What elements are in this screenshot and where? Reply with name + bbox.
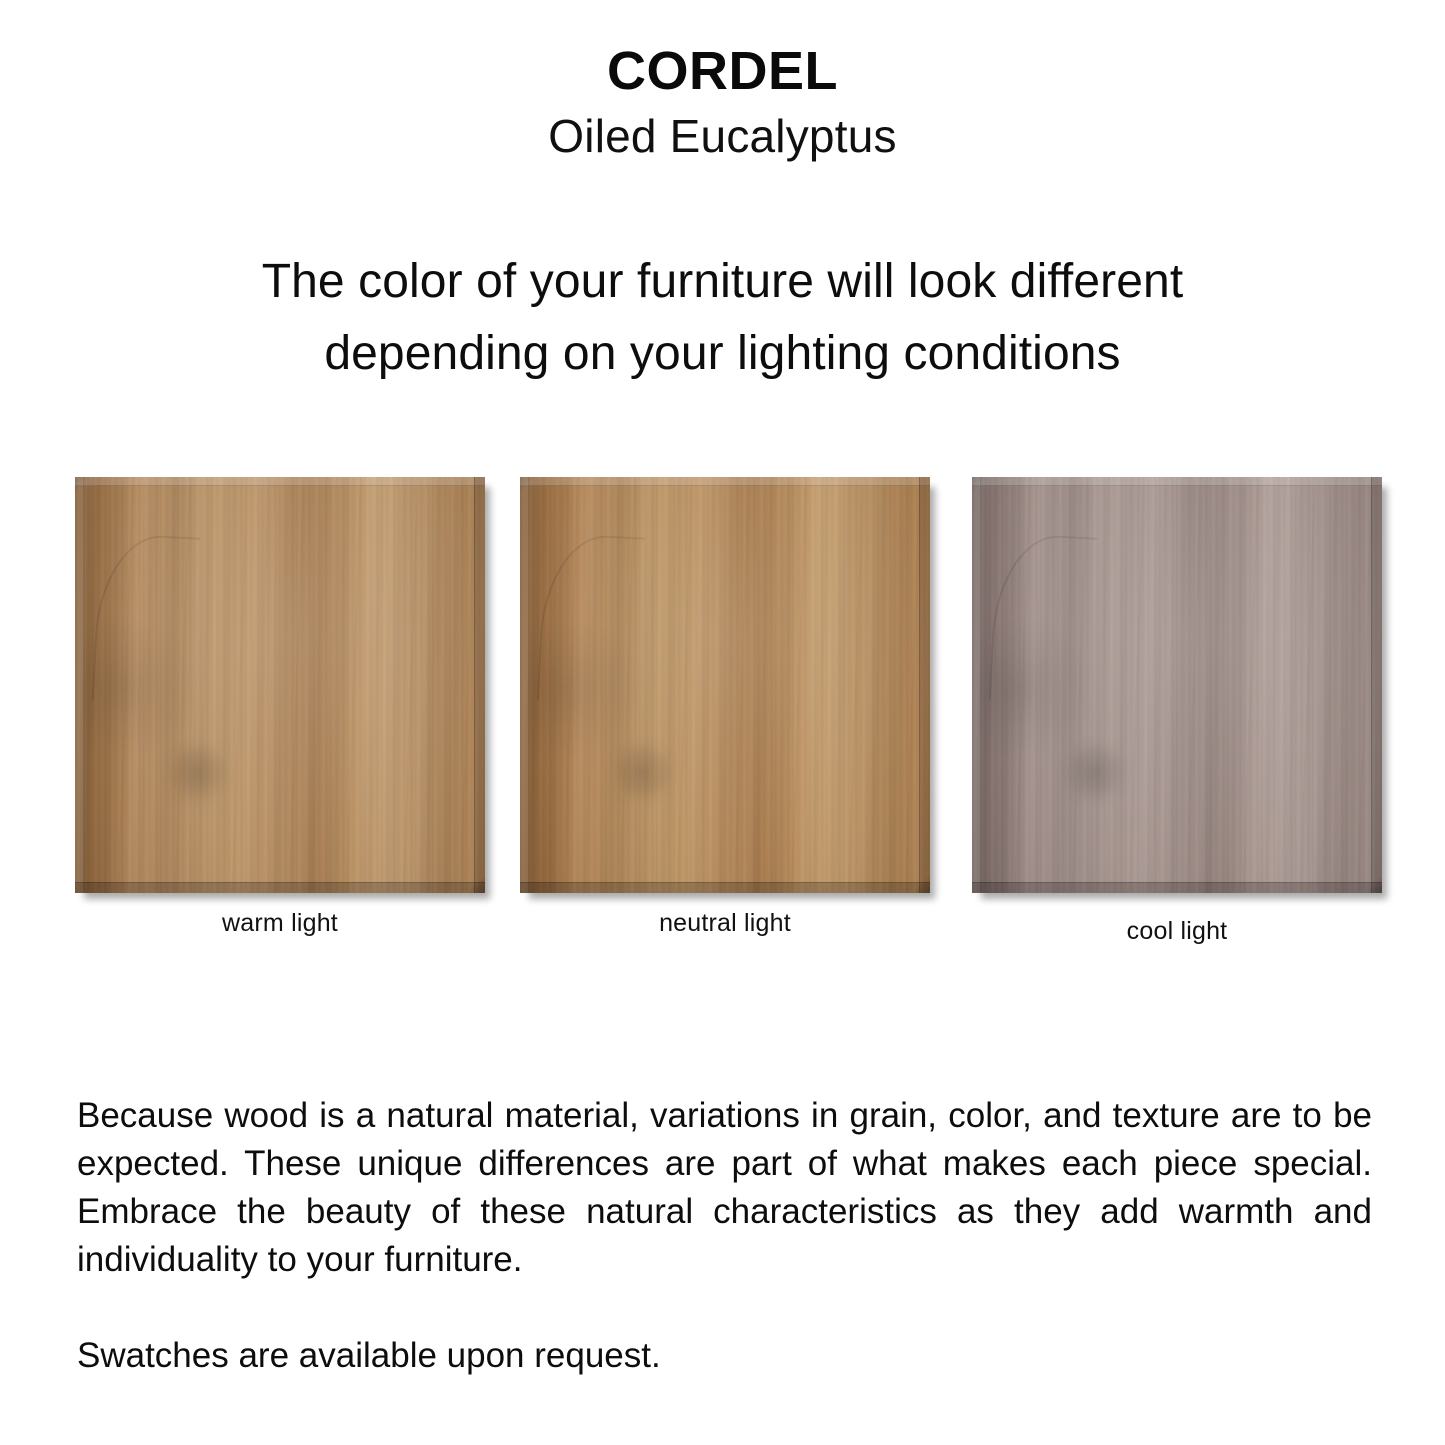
body-paragraph-2: Swatches are available upon request. xyxy=(77,1332,1372,1380)
finish-name: Oiled Eucalyptus xyxy=(0,113,1445,159)
swatch-label-cool: cool light xyxy=(972,917,1382,946)
color-disclaimer-page: CORDEL Oiled Eucalyptus The color of you… xyxy=(0,0,1445,1445)
swatch-row: warm light xyxy=(0,477,1445,947)
swatch-cell-neutral: neutral light xyxy=(520,477,930,893)
brand-title: CORDEL xyxy=(0,44,1445,98)
headline: The color of your furniture will look di… xyxy=(170,246,1275,390)
swatch-label-neutral: neutral light xyxy=(520,909,930,938)
swatch-cell-cool: cool light xyxy=(972,477,1382,893)
wood-swatch-icon xyxy=(520,477,930,893)
wood-swatch-icon xyxy=(75,477,485,893)
body-paragraph-1: Because wood is a natural material, vari… xyxy=(77,1092,1372,1284)
swatch-label-warm: warm light xyxy=(75,909,485,938)
body-copy: Because wood is a natural material, vari… xyxy=(77,1092,1372,1380)
wood-swatch-icon xyxy=(972,477,1382,893)
swatch-cell-warm: warm light xyxy=(75,477,485,893)
